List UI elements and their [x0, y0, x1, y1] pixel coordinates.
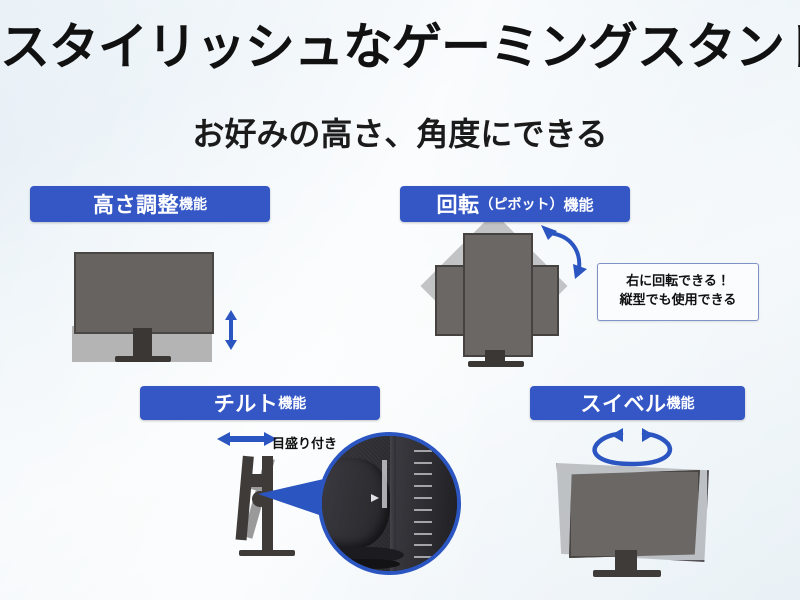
- tilt-scale-note: 目盛り付き: [272, 433, 337, 452]
- stand-hinge-knob: [318, 458, 390, 548]
- section-label-tilt-suffix: 機能: [278, 393, 306, 413]
- monitor-stand-neck: [133, 328, 152, 358]
- section-label-pivot-suffix: 機能: [563, 194, 593, 215]
- section-label-pivot: 回転（ピボット）機能: [400, 186, 630, 222]
- section-label-tilt: チルト機能: [140, 386, 380, 420]
- curved-rotate-arrow-icon: [535, 219, 605, 284]
- scale-pointer-icon: [371, 494, 379, 502]
- swivel-loop-arrow-icon: [575, 428, 690, 470]
- vertical-double-arrow-icon: [223, 310, 239, 350]
- callout-line-2: 縦型でも使用できる: [620, 292, 737, 311]
- monitor-stand-base: [593, 570, 661, 577]
- scale-slider: [382, 460, 387, 508]
- magnifier-detail-icon: [318, 432, 461, 575]
- monitor-screen: [74, 252, 214, 334]
- page-subtitle: お好みの高さ、角度にできる: [0, 118, 800, 150]
- section-label-height-suffix: 機能: [179, 194, 207, 214]
- monitor-stand-base: [115, 356, 171, 362]
- section-label-swivel: スイベル機能: [530, 386, 745, 420]
- stand-foot-plate-lower: [330, 559, 400, 569]
- section-label-swivel-suffix: 機能: [667, 393, 695, 413]
- callout-pivot-note: 右に回転できる！ 縦型でも使用できる: [597, 263, 759, 321]
- section-label-pivot-main: 回転: [436, 189, 479, 219]
- monitor-stand-base: [239, 550, 295, 556]
- callout-line-1: 右に回転できる！: [626, 273, 730, 292]
- page-title: スタイリッシュなゲーミングスタンド: [0, 22, 800, 72]
- slide-canvas: スタイリッシュなゲーミングスタンド お好みの高さ、角度にできる 高さ調整機能 回…: [0, 0, 800, 600]
- section-label-tilt-main: チルト: [214, 388, 279, 418]
- monitor-screen: [569, 470, 700, 558]
- section-label-pivot-paren: （ピボット）: [479, 194, 563, 214]
- section-label-height-main: 高さ調整: [93, 189, 179, 219]
- figure-swivel: [545, 428, 745, 583]
- figure-height-adjust: [60, 238, 320, 380]
- figure-pivot-rotation: [430, 228, 600, 378]
- horizontal-double-arrow-icon: [217, 430, 277, 448]
- height-scale-ticks: [414, 438, 432, 570]
- monitor-stand-base: [468, 361, 524, 367]
- section-label-swivel-main: スイベル: [581, 388, 667, 418]
- section-label-height: 高さ調整機能: [30, 186, 270, 222]
- monitor-portrait: [463, 233, 533, 357]
